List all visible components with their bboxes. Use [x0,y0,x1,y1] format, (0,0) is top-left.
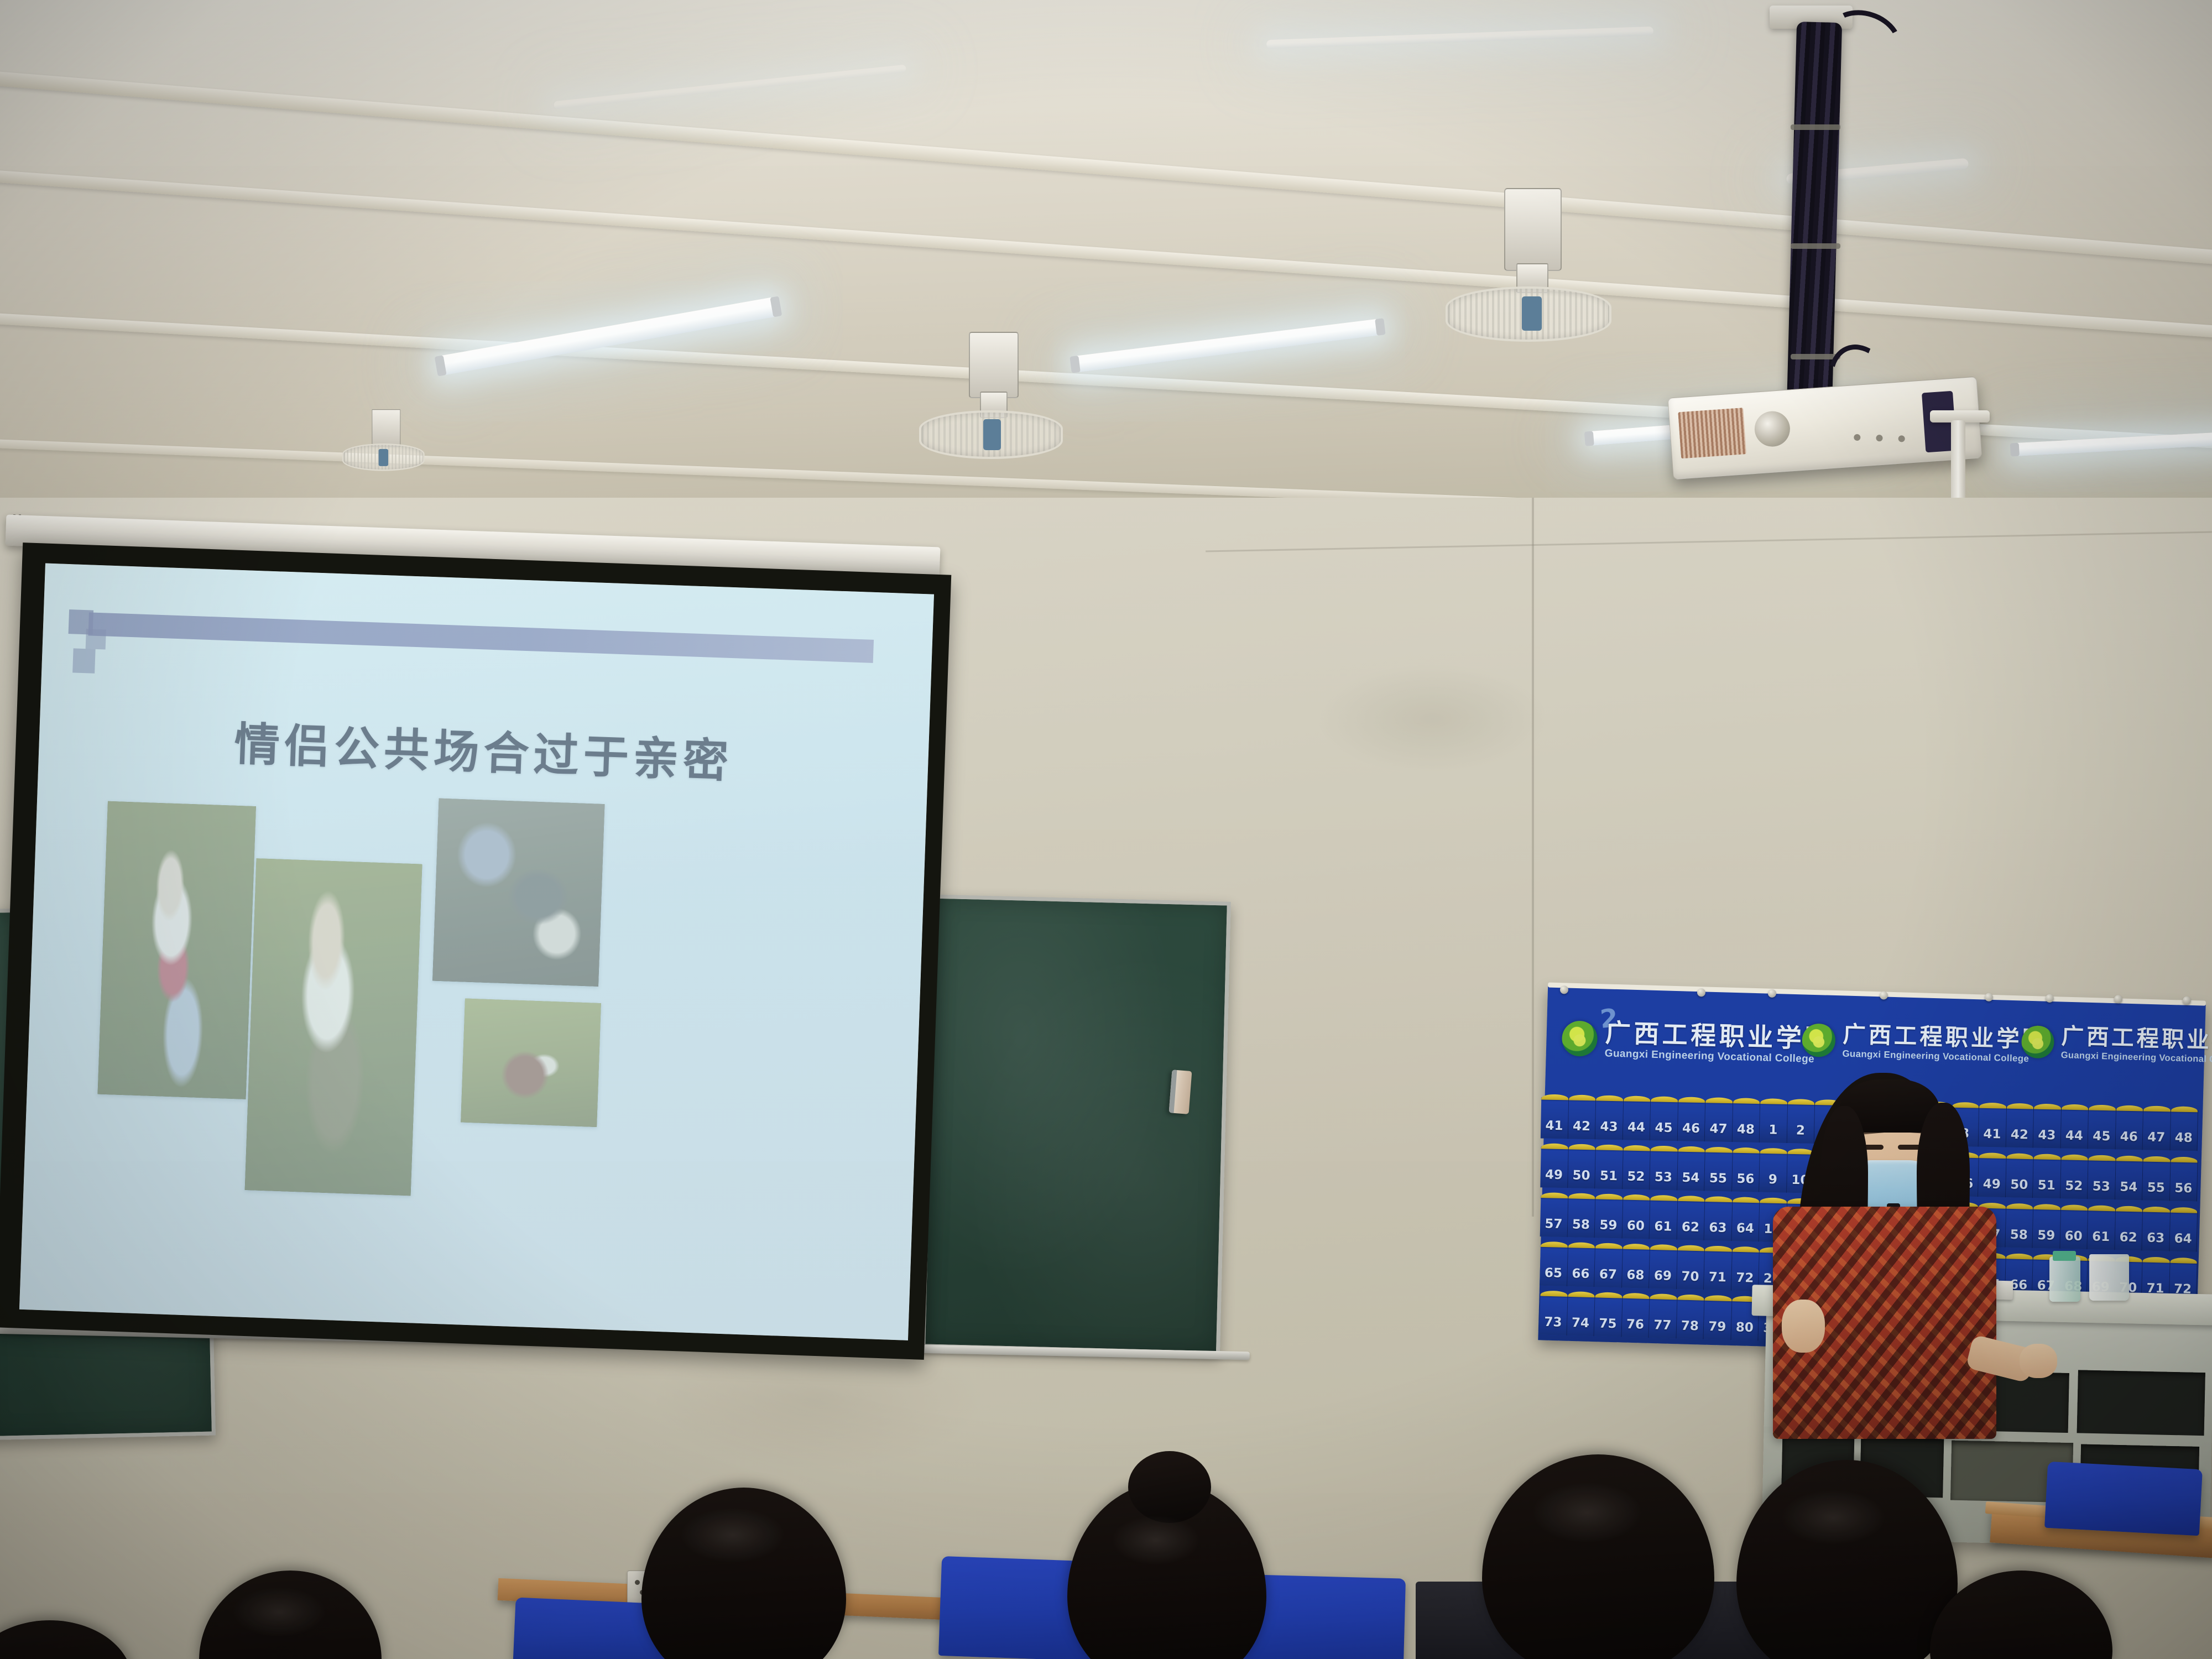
chalk-eraser[interactable] [1169,1070,1192,1114]
pocket-number: 9 [1768,1173,1778,1186]
pocket-number: 46 [1682,1122,1700,1135]
phone-pocket[interactable]: 56 [2170,1160,2198,1202]
phone-pocket[interactable]: 64 [1731,1200,1760,1241]
phone-pocket[interactable]: 61 [1650,1198,1678,1240]
pocket-number: 60 [1627,1220,1645,1233]
phone-pocket[interactable]: 44 [1623,1099,1651,1140]
green-chalkboard-main [921,895,1231,1355]
phone-pocket[interactable]: 41 [1979,1106,2007,1147]
slide-decor-square [72,648,96,673]
pocket-number: 58 [2010,1229,2028,1242]
pocket-number: 51 [2038,1179,2056,1192]
phone-pocket[interactable]: 52 [2060,1157,2089,1199]
pocket-number: 67 [1599,1269,1618,1282]
lectern-cubby [2077,1370,2205,1437]
phone-pocket[interactable]: 48 [1732,1101,1760,1142]
slide-title: 情侣公共场合过于亲密 [38,700,929,797]
pocket-number: 53 [1655,1171,1672,1185]
phone-pocket[interactable]: 43 [1595,1098,1624,1140]
phone-pocket[interactable]: 62 [2115,1209,2143,1250]
projection-screen-surface: 情侣公共场合过于亲密 [19,564,934,1340]
phone-pocket[interactable]: 42 [1568,1098,1596,1139]
slide-photo-4 [461,999,601,1127]
pocket-number: 59 [2037,1229,2056,1243]
phone-pocket[interactable]: 68 [1622,1247,1650,1288]
cable-tie [1791,243,1840,249]
phone-pocket[interactable]: 67 [1594,1246,1623,1287]
pocket-number: 49 [1545,1168,1563,1182]
slide-photo-3 [432,799,604,987]
projection-screen-frame: 情侣公共场合过于亲密 [0,542,951,1360]
pocket-number: 41 [1983,1128,2001,1141]
phone-pocket[interactable]: 70 [1677,1248,1705,1290]
pocket-number: 44 [2065,1130,2083,1143]
pocket-number: 42 [2011,1129,2028,1142]
banner-title-cn: 广西工程职业学院 [2061,1025,2212,1053]
phone-pocket[interactable]: 47 [2143,1109,2171,1150]
pocket-number: 48 [1737,1123,1755,1136]
pocket-number: 54 [2120,1181,2137,1194]
phone-pocket[interactable]: 73 [1540,1294,1568,1335]
banner-pin [1985,993,1993,1001]
phone-pocket[interactable]: 61 [2087,1208,2115,1250]
fluorescent-tube [1073,319,1382,373]
slide-photo-2 [245,858,422,1196]
slide-photo-1 [98,801,256,1099]
pocket-number: 56 [2174,1182,2192,1196]
pocket-number: 66 [1572,1267,1590,1281]
pocket-number: 45 [2093,1130,2110,1144]
hair-bun [1128,1451,1211,1523]
banner-title-cn: 广西工程职业学院 [1605,1020,1833,1051]
pocket-number: 52 [1627,1171,1645,1184]
phone-pocket[interactable]: 51 [2033,1157,2061,1198]
pocket-number: 56 [1736,1173,1754,1186]
presenter-hand-left [1782,1300,1825,1353]
pocket-number: 64 [2174,1233,2192,1246]
pocket-number: 64 [1736,1222,1755,1235]
phone-pocket[interactable]: 49 [1978,1156,2006,1197]
phone-pocket[interactable]: 51 [1595,1147,1623,1189]
pocket-number: 63 [2147,1232,2165,1245]
banner-header-panel-3: 广西工程职业学院 Guangxi Engineering Vocational … [2021,1024,2212,1065]
phone-pocket[interactable]: 46 [2115,1108,2143,1150]
pocket-number: 75 [1599,1318,1617,1331]
phone-pocket[interactable]: 65 [1540,1245,1568,1286]
phone-pocket[interactable]: 49 [1540,1146,1568,1188]
ceiling [0,0,2212,542]
banner-header-panel-1: 广西工程职业学院 Guangxi Engineering Vocational … [1562,1019,1834,1065]
phone-pocket[interactable]: 77 [1649,1297,1678,1338]
pocket-number: 62 [1682,1221,1700,1234]
phone-pocket[interactable]: 66 [1567,1245,1595,1287]
water-bottle[interactable] [2049,1256,2080,1302]
pocket-number: 57 [1545,1218,1563,1231]
phone-pocket[interactable]: 9 [1759,1151,1787,1193]
college-logo-icon [2021,1025,2055,1059]
pocket-number: 74 [1572,1317,1590,1330]
pocket-number: 48 [2175,1132,2193,1145]
projector-vent [1678,408,1746,458]
phone-pocket[interactable]: 55 [1704,1150,1733,1192]
phone-pocket[interactable]: 52 [1623,1148,1651,1190]
wall-trim-line [1206,531,2212,552]
pocket-number: 44 [1627,1121,1645,1134]
fluorescent-tube [1266,27,1653,49]
phone-pocket[interactable]: 50 [2006,1156,2034,1198]
pocket-number: 52 [2065,1180,2083,1193]
pocket-number: 2 [1796,1124,1805,1137]
phone-pocket[interactable]: 53 [1650,1149,1678,1190]
phone-pocket[interactable]: 56 [1732,1151,1760,1192]
ceiling-beam [0,166,2212,344]
phone-pocket[interactable]: 1 [1760,1102,1788,1143]
phone-pocket[interactable]: 54 [1677,1150,1705,1191]
pocket-number: 63 [1709,1222,1727,1235]
phone-pocket[interactable]: 44 [2060,1108,2089,1149]
phone-pocket[interactable]: 59 [1595,1197,1623,1238]
pocket-number: 58 [1572,1218,1590,1232]
phone-pocket[interactable]: 57 [1540,1196,1568,1237]
phone-pocket[interactable]: 45 [2088,1108,2116,1149]
phone-pocket[interactable]: 55 [2142,1159,2171,1201]
phone-pocket[interactable]: 71 [1704,1249,1732,1290]
classroom-scene: 情侣公共场合过于亲密 [0,0,2212,1659]
pocket-number: 76 [1626,1318,1645,1332]
pocket-number: 77 [1653,1319,1672,1332]
presentation-slide: 情侣公共场合过于亲密 [19,564,934,1340]
phone-pocket[interactable]: 54 [2115,1159,2143,1200]
pocket-number: 47 [1709,1123,1727,1136]
banner-header-panel-2: 广西工程职业学院 Guangxi Engineering Vocational … [1802,1022,2048,1063]
phone-pocket[interactable]: 45 [1650,1099,1678,1141]
pocket-number: 79 [1708,1321,1726,1334]
phone-pocket[interactable]: 75 [1594,1295,1623,1337]
pocket-number: 54 [1682,1172,1699,1185]
pocket-number: 47 [2147,1131,2165,1145]
pocket-number: 51 [1600,1170,1618,1183]
phone-pocket[interactable]: 48 [2170,1109,2198,1151]
wall-seam [1532,498,1534,1217]
paper-cup[interactable] [2089,1254,2129,1301]
banner-pin [1697,988,1705,997]
cable-tie [1791,124,1840,130]
phone-pocket[interactable]: 2 [1787,1102,1815,1144]
phone-pocket[interactable]: 60 [1622,1197,1650,1239]
pocket-number: 70 [1681,1270,1699,1284]
pocket-number: 61 [2092,1230,2110,1244]
pocket-number: 45 [1655,1121,1672,1135]
phone-pocket[interactable]: 79 [1703,1298,1732,1340]
phone-pocket[interactable]: 78 [1676,1297,1705,1339]
pocket-number: 80 [1735,1321,1754,1334]
pocket-number: 43 [1600,1121,1618,1134]
pocket-number: 50 [2010,1178,2028,1192]
pocket-number: 65 [1545,1267,1563,1280]
pocket-number: 62 [2119,1232,2137,1245]
pocket-number: 41 [1545,1120,1563,1133]
phone-pocket[interactable]: 74 [1567,1295,1595,1336]
pocket-number: 1 [1768,1124,1777,1136]
student-chair[interactable] [2044,1462,2203,1536]
phone-pocket[interactable]: 46 [1677,1100,1705,1141]
pocket-number: 61 [1654,1220,1672,1234]
banner-title-cn: 广西工程职业学院 [1843,1023,2048,1052]
phone-pocket[interactable]: 41 [1541,1097,1569,1139]
phone-pocket[interactable]: 53 [2088,1158,2116,1199]
pocket-number: 78 [1681,1320,1699,1333]
phone-pocket[interactable]: 69 [1649,1248,1677,1289]
pocket-number: 53 [2093,1181,2110,1194]
pocket-number: 43 [2038,1129,2056,1142]
pocket-number: 50 [1572,1169,1590,1182]
phone-pocket[interactable]: 63 [2142,1209,2170,1251]
pocket-number: 49 [1983,1178,2001,1191]
pocket-number: 71 [1709,1271,1727,1285]
phone-pocket[interactable]: 58 [2005,1207,2033,1248]
fluorescent-tube [554,65,906,109]
phone-pocket[interactable]: 50 [1568,1147,1596,1188]
pocket-number: 59 [1599,1219,1618,1233]
phone-pocket[interactable]: 58 [1567,1196,1595,1238]
pocket-number: 42 [1573,1120,1590,1134]
phone-pocket[interactable]: 42 [2006,1107,2034,1148]
pocket-number: 60 [2064,1230,2083,1243]
phone-pocket[interactable]: 76 [1621,1296,1650,1338]
pocket-number: 68 [1626,1269,1645,1282]
ceiling-projector [1668,377,1983,480]
projector-lens [1754,410,1791,447]
pocket-number: 69 [1654,1270,1672,1283]
banner-pin [1560,985,1568,994]
phone-pocket[interactable]: 47 [1705,1100,1733,1142]
college-logo-icon [1562,1020,1598,1057]
phone-pocket[interactable]: 43 [2033,1107,2062,1149]
slide-decor-bar [88,612,874,663]
college-logo-icon [1802,1023,1836,1057]
phone-pocket[interactable]: 64 [2169,1211,2198,1252]
pocket-number: 72 [1736,1272,1754,1285]
phone-pocket[interactable]: 60 [2060,1208,2088,1249]
pocket-number: 46 [2120,1131,2138,1144]
phone-pocket[interactable]: 59 [2032,1207,2060,1249]
phone-pocket[interactable]: 63 [1704,1199,1733,1241]
pocket-number: 55 [1709,1172,1727,1186]
pocket-number: 73 [1544,1316,1562,1329]
phone-pocket[interactable]: 62 [1677,1199,1705,1240]
pocket-number: 55 [2147,1182,2164,1195]
projector-cable-bundle [1787,22,1842,410]
banner-pin [1768,989,1776,998]
presenter-hand-right [2020,1344,2057,1378]
banner-pin [1880,991,1888,999]
bottle-cap [2053,1251,2076,1261]
